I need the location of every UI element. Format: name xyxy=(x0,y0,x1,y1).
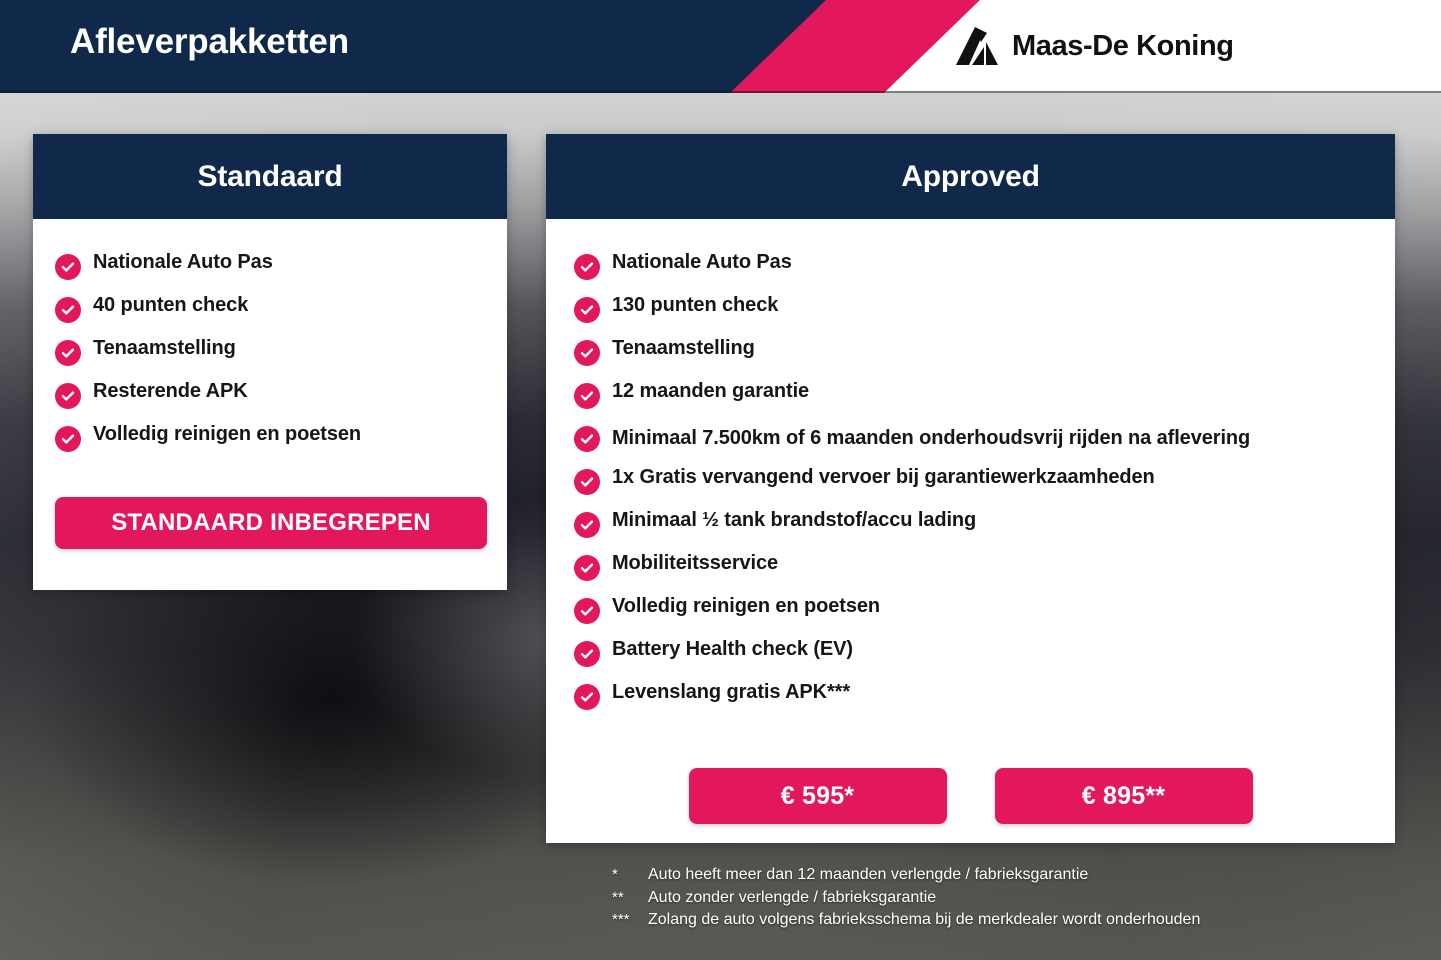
check-circle-icon xyxy=(574,254,600,280)
list-item: Tenaamstelling xyxy=(55,338,475,366)
feature-label: 1x Gratis vervangend vervoer bij garanti… xyxy=(612,467,1155,487)
list-item: Mobiliteitsservice xyxy=(574,553,1384,581)
list-item: Tenaamstelling xyxy=(574,338,1384,366)
list-item: 12 maanden garantie xyxy=(574,381,1384,409)
check-circle-icon xyxy=(574,598,600,624)
footnote-text: Auto heeft meer dan 12 maanden verlengde… xyxy=(648,864,1412,887)
feature-label: 40 punten check xyxy=(93,295,248,315)
page-header: Afleverpakketten Maas-De Koning xyxy=(0,0,1441,93)
feature-list-standaard: Nationale Auto Pas 40 punten check Tenaa… xyxy=(55,252,475,467)
list-item: 40 punten check xyxy=(55,295,475,323)
price-button-895[interactable]: € 895** xyxy=(995,768,1253,824)
footnote-marker: *** xyxy=(612,909,648,930)
list-item: Levenslang gratis APK*** xyxy=(574,682,1384,710)
feature-label: Tenaamstelling xyxy=(93,338,236,358)
list-item: Volledig reinigen en poetsen xyxy=(574,596,1384,624)
feature-label: Volledig reinigen en poetsen xyxy=(93,424,361,444)
footnote-row: *** Zolang de auto volgens fabrieksschem… xyxy=(612,909,1412,932)
footnote-marker: * xyxy=(612,864,648,885)
check-circle-icon xyxy=(574,512,600,538)
feature-label: Mobiliteitsservice xyxy=(612,553,778,573)
list-item: Nationale Auto Pas xyxy=(55,252,475,280)
list-item: 130 punten check xyxy=(574,295,1384,323)
feature-label: Nationale Auto Pas xyxy=(93,252,273,272)
feature-label: Battery Health check (EV) xyxy=(612,639,853,659)
footnote-text: Auto zonder verlengde / fabrieksgarantie xyxy=(648,887,1412,910)
brand-name: Maas-De Koning xyxy=(1012,30,1234,63)
check-circle-icon xyxy=(574,426,600,452)
list-item: Nationale Auto Pas xyxy=(574,252,1384,280)
check-circle-icon xyxy=(574,469,600,495)
card-title-approved: Approved xyxy=(901,160,1039,194)
price-button-group: € 595* € 895** xyxy=(546,768,1395,824)
card-header-standaard: Standaard xyxy=(33,134,507,219)
poster-canvas: Afleverpakketten Maas-De Koning Standaar… xyxy=(0,0,1441,960)
header-underline xyxy=(0,91,1441,93)
feature-label: Levenslang gratis APK*** xyxy=(612,682,850,702)
card-header-approved: Approved xyxy=(546,134,1395,219)
list-item: 1x Gratis vervangend vervoer bij garanti… xyxy=(574,467,1384,495)
footnote-row: ** Auto zonder verlengde / fabrieksgaran… xyxy=(612,887,1412,910)
price-button-595[interactable]: € 595* xyxy=(689,768,947,824)
check-circle-icon xyxy=(574,383,600,409)
maas-de-koning-m-logo-icon xyxy=(956,27,998,65)
feature-label: Minimaal ½ tank brandstof/accu lading xyxy=(612,510,976,530)
check-circle-icon xyxy=(574,684,600,710)
check-circle-icon xyxy=(55,254,81,280)
feature-label: Resterende APK xyxy=(93,381,248,401)
check-circle-icon xyxy=(574,297,600,323)
check-circle-icon xyxy=(574,641,600,667)
list-item: Minimaal 7.500km of 6 maanden onderhouds… xyxy=(574,424,1384,452)
feature-label: Tenaamstelling xyxy=(612,338,755,358)
feature-label: Volledig reinigen en poetsen xyxy=(612,596,880,616)
footnote-row: * Auto heeft meer dan 12 maanden verleng… xyxy=(612,864,1412,887)
feature-list-approved: Nationale Auto Pas 130 punten check Tena… xyxy=(574,252,1384,725)
check-circle-icon xyxy=(55,297,81,323)
footnotes: * Auto heeft meer dan 12 maanden verleng… xyxy=(612,864,1412,932)
page-title: Afleverpakketten xyxy=(70,22,349,62)
feature-label: Nationale Auto Pas xyxy=(612,252,792,272)
check-circle-icon xyxy=(55,340,81,366)
card-title-standaard: Standaard xyxy=(198,160,343,194)
list-item: Minimaal ½ tank brandstof/accu lading xyxy=(574,510,1384,538)
feature-label: Minimaal 7.500km of 6 maanden onderhouds… xyxy=(612,424,1250,452)
list-item: Volledig reinigen en poetsen xyxy=(55,424,475,452)
list-item: Resterende APK xyxy=(55,381,475,409)
footnote-text: Zolang de auto volgens fabrieksschema bi… xyxy=(648,909,1412,932)
standaard-inbegrepen-button[interactable]: STANDAARD INBEGREPEN xyxy=(55,497,487,549)
feature-label: 130 punten check xyxy=(612,295,778,315)
check-circle-icon xyxy=(574,340,600,366)
check-circle-icon xyxy=(55,383,81,409)
feature-label: 12 maanden garantie xyxy=(612,381,809,401)
list-item: Battery Health check (EV) xyxy=(574,639,1384,667)
check-circle-icon xyxy=(574,555,600,581)
check-circle-icon xyxy=(55,426,81,452)
brand-lockup: Maas-De Koning xyxy=(956,27,1234,65)
footnote-marker: ** xyxy=(612,887,648,908)
